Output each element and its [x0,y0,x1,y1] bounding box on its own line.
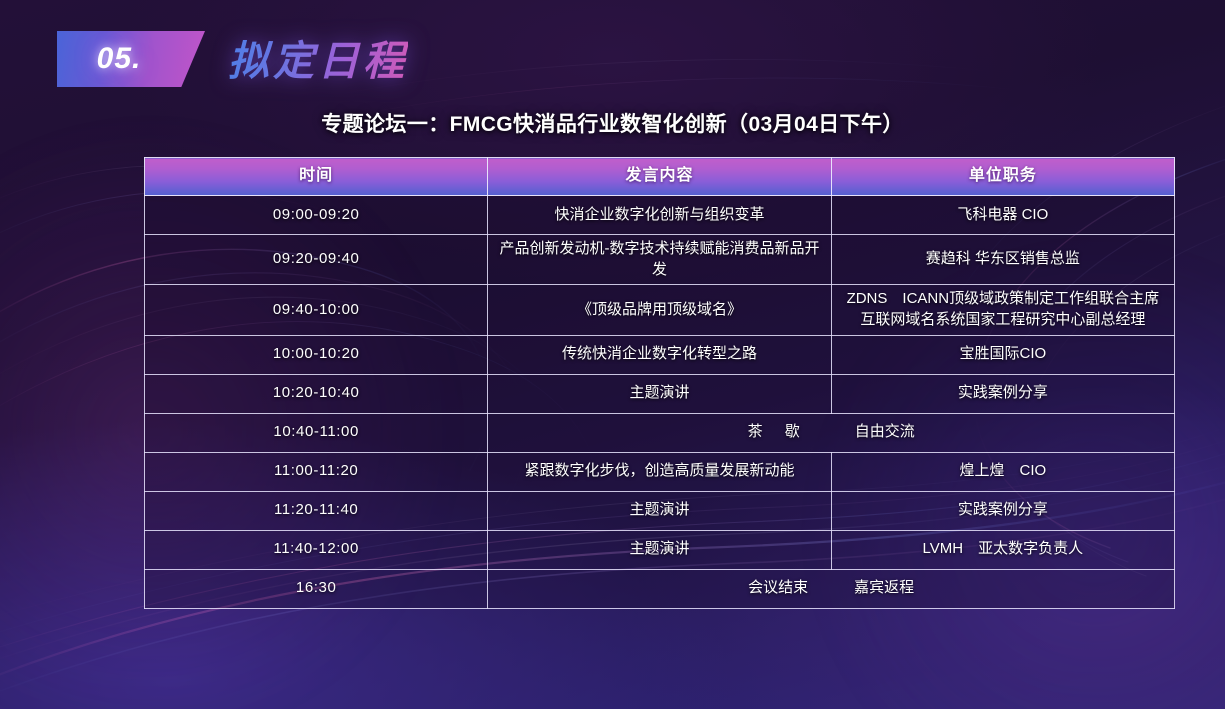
cell-topic: 主题演讲 [488,374,831,413]
cell-topic: 传统快消企业数字化转型之路 [488,335,831,374]
cell-topic: 《顶级品牌用顶级域名》 [488,285,831,335]
table-row: 09:40-10:00 《顶级品牌用顶级域名》 ZDNS ICANN顶级域政策制… [145,285,1175,335]
slide-root: 05. 拟定日程 专题论坛一：FMCG快消品行业数智化创新（03月04日下午） … [0,0,1225,709]
schedule-table-body: 09:00-09:20 快消企业数字化创新与组织变革 飞科电器 CIO 09:2… [145,196,1175,609]
column-header-org: 单位职务 [831,158,1174,196]
section-number-text: 05. [57,31,181,87]
closing-label-end: 会议结束 [748,578,808,599]
schedule-table: 时间 发言内容 单位职务 09:00-09:20 快消企业数字化创新与组织变革 … [144,157,1175,609]
break-label-tea: 茶 歇 [748,422,809,443]
cell-time: 10:20-10:40 [145,374,488,413]
table-row: 09:20-09:40 产品创新发动机-数字技术持续赋能消费品新品开发 赛趋科 … [145,235,1175,285]
break-label-networking: 自由交流 [855,422,915,443]
cell-org: 宝胜国际CIO [831,335,1174,374]
cell-topic: 紧跟数字化步伐，创造高质量发展新动能 [488,452,831,491]
cell-time: 11:00-11:20 [145,452,488,491]
section-number-badge: 05. [57,31,205,87]
table-row: 11:20-11:40 主题演讲 实践案例分享 [145,491,1175,530]
cell-org: 实践案例分享 [831,491,1174,530]
column-header-time: 时间 [145,158,488,196]
cell-time: 10:40-11:00 [145,413,488,452]
table-row: 10:00-10:20 传统快消企业数字化转型之路 宝胜国际CIO [145,335,1175,374]
cell-org-line-1: ZDNS ICANN顶级域政策制定工作组联合主席 [838,289,1168,310]
schedule-table-container: 时间 发言内容 单位职务 09:00-09:20 快消企业数字化创新与组织变革 … [144,157,1175,609]
table-row: 09:00-09:20 快消企业数字化创新与组织变革 飞科电器 CIO [145,196,1175,235]
slide-header: 05. 拟定日程 [0,0,1225,100]
cell-org-line-2: 互联网域名系统国家工程研究中心副总经理 [838,310,1168,331]
table-row-closing: 16:30 会议结束 嘉宾返程 [145,569,1175,608]
table-row: 10:20-10:40 主题演讲 实践案例分享 [145,374,1175,413]
cell-time: 09:40-10:00 [145,285,488,335]
cell-org: 煌上煌 CIO [831,452,1174,491]
cell-topic: 主题演讲 [488,530,831,569]
cell-merged-break: 茶 歇 自由交流 [488,413,1175,452]
cell-org: ZDNS ICANN顶级域政策制定工作组联合主席 互联网域名系统国家工程研究中心… [831,285,1174,335]
cell-topic: 快消企业数字化创新与组织变革 [488,196,831,235]
forum-title: 专题论坛一：FMCG快消品行业数智化创新（03月04日下午） [0,108,1225,138]
closing-label-depart: 嘉宾返程 [854,578,914,599]
table-row: 11:40-12:00 主题演讲 LVMH 亚太数字负责人 [145,530,1175,569]
cell-time: 11:40-12:00 [145,530,488,569]
cell-time: 11:20-11:40 [145,491,488,530]
cell-org: 实践案例分享 [831,374,1174,413]
table-header-row: 时间 发言内容 单位职务 [145,158,1175,196]
cell-org: 飞科电器 CIO [831,196,1174,235]
cell-topic: 产品创新发动机-数字技术持续赋能消费品新品开发 [488,235,831,285]
cell-time: 09:20-09:40 [145,235,488,285]
cell-org: LVMH 亚太数字负责人 [831,530,1174,569]
table-row: 11:00-11:20 紧跟数字化步伐，创造高质量发展新动能 煌上煌 CIO [145,452,1175,491]
cell-topic: 主题演讲 [488,491,831,530]
cell-time: 10:00-10:20 [145,335,488,374]
cell-time: 16:30 [145,569,488,608]
cell-merged-closing: 会议结束 嘉宾返程 [488,569,1175,608]
cell-org: 赛趋科 华东区销售总监 [831,235,1174,285]
cell-time: 09:00-09:20 [145,196,488,235]
table-row-break: 10:40-11:00 茶 歇 自由交流 [145,413,1175,452]
page-title: 拟定日程 [228,27,408,87]
column-header-topic: 发言内容 [488,158,831,196]
schedule-table-head: 时间 发言内容 单位职务 [145,158,1175,196]
